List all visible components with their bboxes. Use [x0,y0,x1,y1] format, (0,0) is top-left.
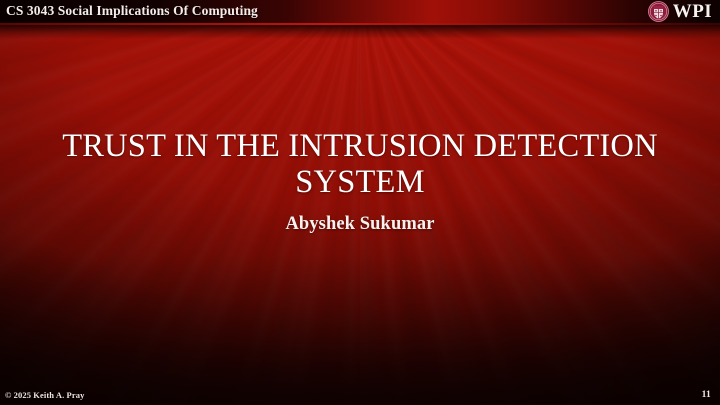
wpi-crest-icon [648,1,669,22]
course-title: CS 3043 Social Implications Of Computing [6,3,258,19]
slide-title: TRUST IN THE INTRUSION DETECTION SYSTEM [44,128,676,200]
background-bottom-shading [0,255,720,405]
slide-page-number: 11 [702,390,711,400]
wpi-wordmark: WPI [673,2,712,22]
slide-content: TRUST IN THE INTRUSION DETECTION SYSTEM … [44,128,676,235]
slide-subtitle-author: Abyshek Sukumar [44,214,676,235]
wpi-logo: WPI [648,1,712,22]
copyright-notice: © 2025 Keith A. Pray [5,390,84,400]
header-drop-shadow [0,25,720,39]
presentation-slide: CS 3043 Social Implications Of Computing… [0,0,720,405]
